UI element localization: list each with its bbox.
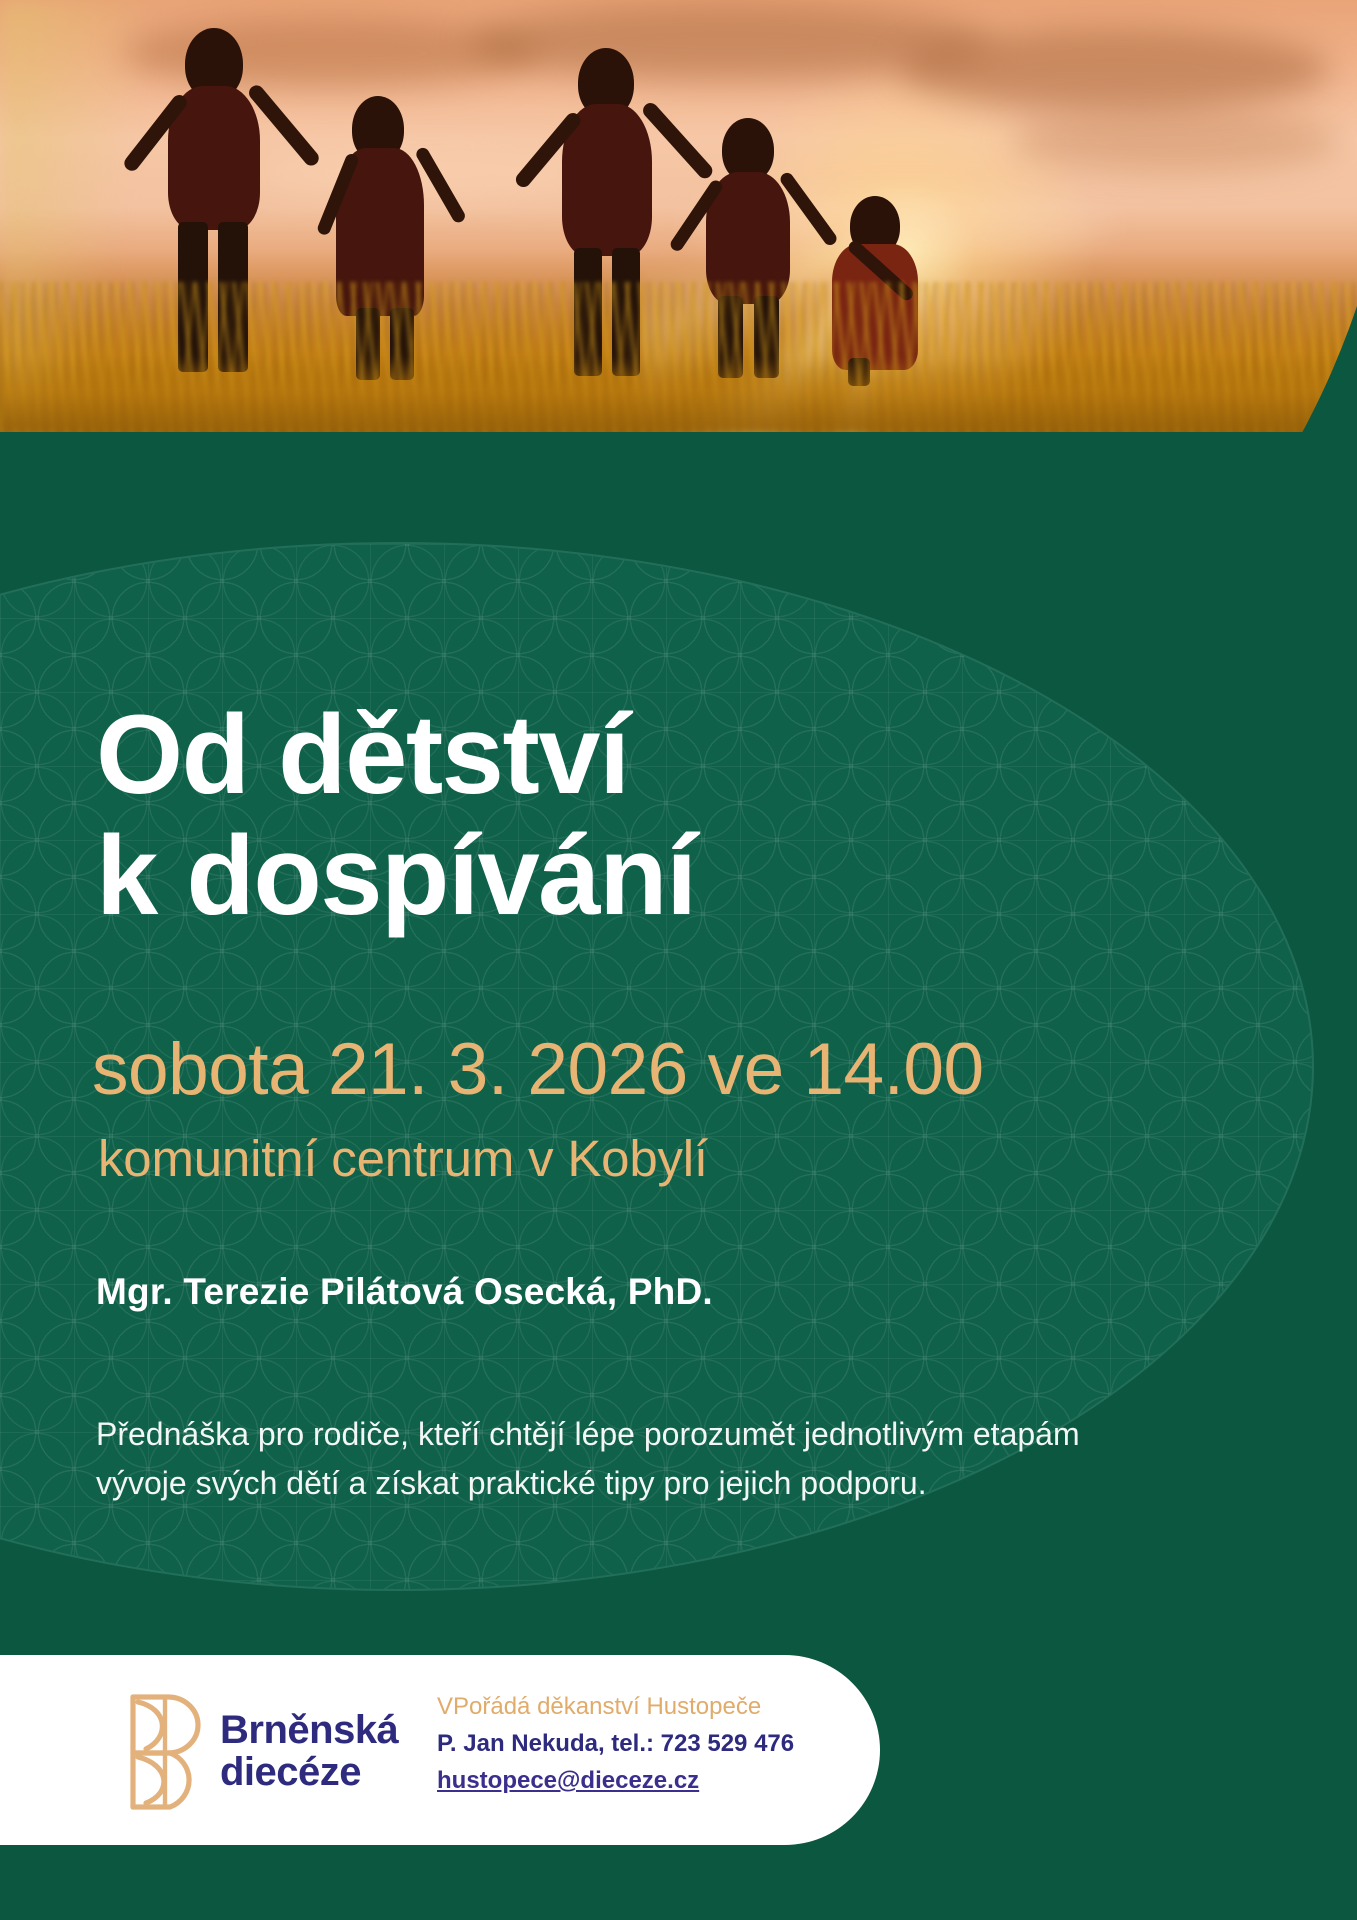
organizer-line: VPořádá děkanství Hustopeče — [437, 1690, 857, 1724]
event-description: Přednáška pro rodiče, kteří chtějí lépe … — [96, 1410, 1106, 1507]
contact-block: VPořádá děkanství Hustopeče P. Jan Nekud… — [437, 1690, 857, 1798]
contact-email-link[interactable]: hustopece@dieceze.cz — [437, 1764, 699, 1798]
contact-person-line: P. Jan Nekuda, tel.: 723 529 476 — [437, 1727, 857, 1761]
poster-title: Od dětství k dospívání — [96, 695, 696, 937]
poster-content: Od dětství k dospívání sobota 21. 3. 202… — [0, 0, 1357, 1920]
event-speaker: Mgr. Terezie Pilátová Osecká, PhD. — [96, 1273, 713, 1310]
event-place: komunitní centrum v Kobylí — [98, 1133, 708, 1184]
leaf-b-logo-icon — [128, 1693, 202, 1811]
event-date: sobota 21. 3. 2026 ve 14.00 — [92, 1033, 984, 1106]
brand-logo: Brněnská diecéze — [128, 1688, 388, 1816]
brand-logo-text: Brněnská diecéze — [220, 1710, 398, 1793]
poster-root: Od dětství k dospívání sobota 21. 3. 202… — [0, 0, 1357, 1920]
